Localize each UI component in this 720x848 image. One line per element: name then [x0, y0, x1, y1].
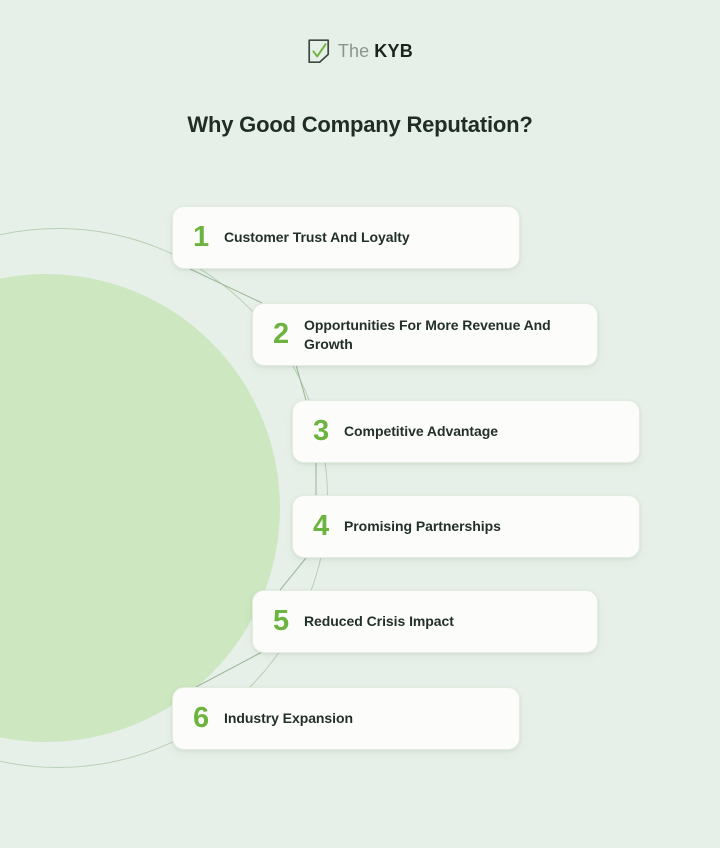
shield-check-icon	[307, 38, 331, 64]
benefit-label-1: Customer Trust And Loyalty	[224, 228, 424, 247]
benefit-card-5[interactable]: 5 Reduced Crisis Impact	[252, 590, 598, 653]
benefit-card-3[interactable]: 3 Competitive Advantage	[292, 400, 640, 463]
benefit-card-6[interactable]: 6 Industry Expansion	[172, 687, 520, 750]
benefit-number-1: 1	[193, 223, 212, 252]
logo-the-text: The	[338, 41, 369, 62]
brand-logo: TheKYB	[0, 38, 720, 64]
benefit-label-3: Competitive Advantage	[344, 422, 512, 441]
benefit-label-4: Promising Partnerships	[344, 517, 515, 536]
benefit-number-6: 6	[193, 704, 212, 733]
benefit-card-2[interactable]: 2 Opportunities For More Revenue And Gro…	[252, 303, 598, 366]
benefit-number-5: 5	[273, 607, 292, 636]
benefit-card-1[interactable]: 1 Customer Trust And Loyalty	[172, 206, 520, 269]
benefit-number-4: 4	[313, 512, 332, 541]
infographic-canvas: TheKYB Why Good Company Reputation? 1 Cu…	[0, 0, 720, 848]
logo-kyb-text: KYB	[374, 41, 413, 62]
logo-wordmark: TheKYB	[338, 41, 413, 62]
benefit-label-5: Reduced Crisis Impact	[304, 612, 468, 631]
benefit-card-4[interactable]: 4 Promising Partnerships	[292, 495, 640, 558]
benefit-label-2: Opportunities For More Revenue And Growt…	[304, 316, 569, 354]
benefit-label-6: Industry Expansion	[224, 709, 367, 728]
benefit-number-3: 3	[313, 417, 332, 446]
benefit-number-2: 2	[273, 320, 292, 349]
page-title: Why Good Company Reputation?	[0, 112, 720, 138]
